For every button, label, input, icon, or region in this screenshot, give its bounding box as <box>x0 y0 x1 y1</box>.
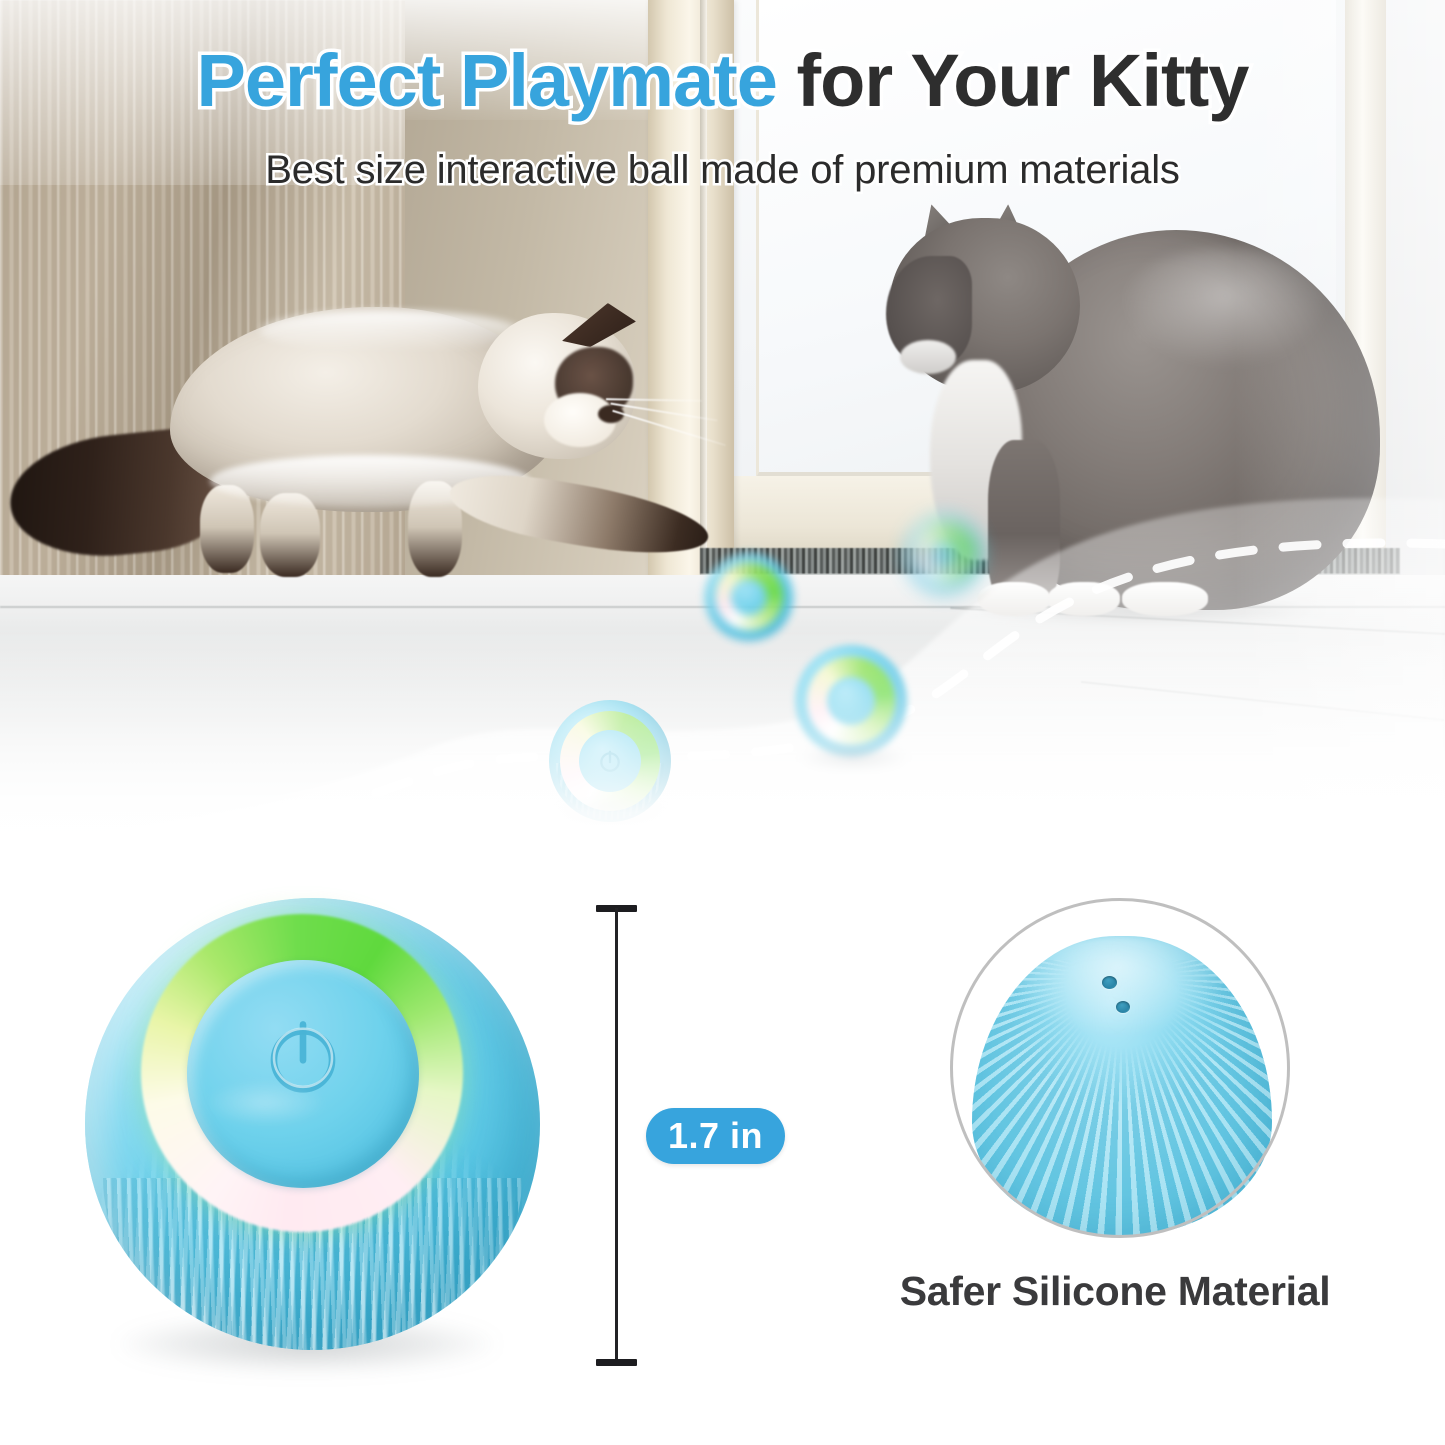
cat-right-chin <box>900 340 956 374</box>
hero-ball-button-cap <box>187 960 419 1188</box>
cat-left-back-highlight <box>260 311 520 351</box>
photo-bottom-fade <box>0 630 1445 870</box>
callout-circle-outline <box>950 898 1290 1238</box>
page-subtitle: Best size interactive ball made of premi… <box>0 148 1445 193</box>
product-lifestyle-photo <box>0 0 1445 870</box>
material-caption: Safer Silicone Material <box>830 1268 1400 1315</box>
ball-button-cap <box>731 579 767 615</box>
infographic-page: Perfect Playmate for Your Kitty Best siz… <box>0 0 1445 1445</box>
page-title: Perfect Playmate for Your Kitty <box>0 44 1445 118</box>
cat-left-whisker <box>612 410 725 446</box>
dimension-cap-bottom <box>596 1359 637 1366</box>
hero-product-ball <box>85 898 550 1368</box>
material-detail-callout <box>950 898 1310 1258</box>
page-title-rest: for Your Kitty <box>777 39 1249 122</box>
ball-button-cap <box>929 539 959 569</box>
hero-cap-specular <box>205 1080 325 1126</box>
scene-ball-far <box>905 515 983 593</box>
size-badge: 1.7 in <box>646 1108 785 1164</box>
dimension-bar <box>615 908 618 1360</box>
dimension-line <box>596 902 636 1366</box>
scene-ball-mid <box>705 553 793 641</box>
page-title-highlight: Perfect Playmate <box>197 39 777 122</box>
